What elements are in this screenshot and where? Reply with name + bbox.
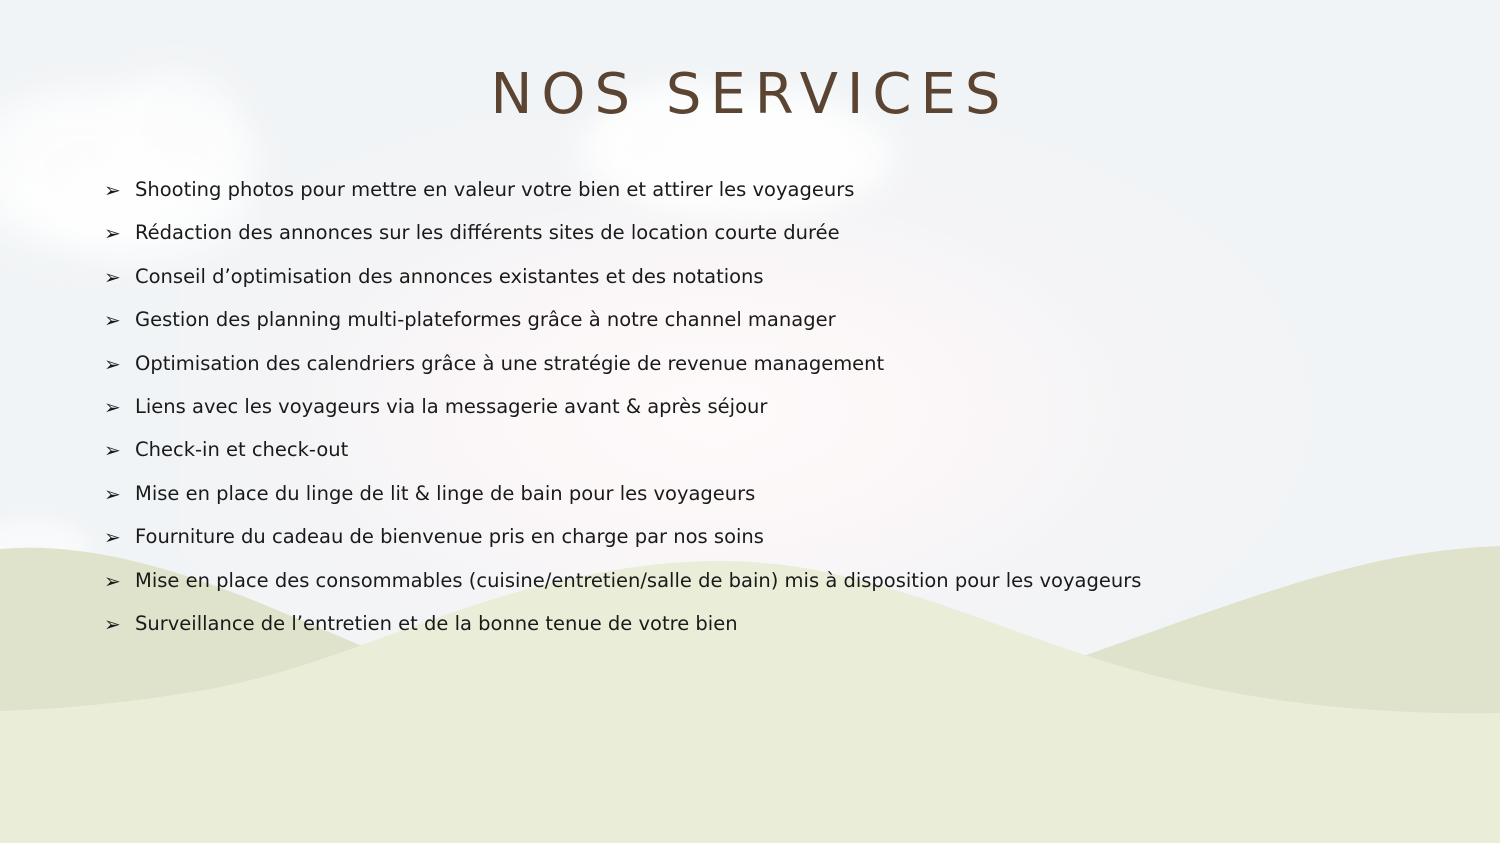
list-item-label: Optimisation des calendriers grâce à une… xyxy=(135,351,884,377)
list-item: ➢ Fourniture du cadeau de bienvenue pris… xyxy=(104,524,1444,567)
list-item-label: Rédaction des annonces sur les différent… xyxy=(135,220,840,246)
list-item-label: Shooting photos pour mettre en valeur vo… xyxy=(135,177,854,203)
list-item-label: Fourniture du cadeau de bienvenue pris e… xyxy=(135,524,764,550)
page-title: NOS SERVICES xyxy=(0,62,1500,127)
list-item-label: Mise en place du linge de lit & linge de… xyxy=(135,481,755,507)
arrowhead-bullet-icon: ➢ xyxy=(104,307,135,333)
list-item-label: Gestion des planning multi-plateformes g… xyxy=(135,307,836,333)
arrowhead-bullet-icon: ➢ xyxy=(104,177,135,203)
services-list: ➢ Shooting photos pour mettre en valeur … xyxy=(104,177,1444,654)
list-item-label: Mise en place des consommables (cuisine/… xyxy=(135,568,1141,594)
list-item: ➢ Check-in et check-out xyxy=(104,437,1444,480)
arrowhead-bullet-icon: ➢ xyxy=(104,394,135,420)
list-item-label: Surveillance de l’entretien et de la bon… xyxy=(135,611,738,637)
list-item: ➢ Conseil d’optimisation des annonces ex… xyxy=(104,264,1444,307)
list-item-label: Liens avec les voyageurs via la messager… xyxy=(135,394,767,420)
list-item: ➢ Rédaction des annonces sur les différe… xyxy=(104,220,1444,263)
arrowhead-bullet-icon: ➢ xyxy=(104,481,135,507)
arrowhead-bullet-icon: ➢ xyxy=(104,220,135,246)
presentation-slide: NOS SERVICES ➢ Shooting photos pour mett… xyxy=(0,0,1500,843)
list-item: ➢ Surveillance de l’entretien et de la b… xyxy=(104,611,1444,654)
slide-content: NOS SERVICES ➢ Shooting photos pour mett… xyxy=(0,0,1500,843)
arrowhead-bullet-icon: ➢ xyxy=(104,568,135,594)
list-item-label: Conseil d’optimisation des annonces exis… xyxy=(135,264,764,290)
list-item: ➢ Gestion des planning multi-plateformes… xyxy=(104,307,1444,350)
list-item: ➢ Shooting photos pour mettre en valeur … xyxy=(104,177,1444,220)
arrowhead-bullet-icon: ➢ xyxy=(104,351,135,377)
list-item: ➢ Liens avec les voyageurs via la messag… xyxy=(104,394,1444,437)
list-item: ➢ Optimisation des calendriers grâce à u… xyxy=(104,351,1444,394)
arrowhead-bullet-icon: ➢ xyxy=(104,524,135,550)
arrowhead-bullet-icon: ➢ xyxy=(104,611,135,637)
list-item: ➢ Mise en place des consommables (cuisin… xyxy=(104,568,1444,611)
list-item-label: Check-in et check-out xyxy=(135,437,348,463)
arrowhead-bullet-icon: ➢ xyxy=(104,264,135,290)
list-item: ➢ Mise en place du linge de lit & linge … xyxy=(104,481,1444,524)
arrowhead-bullet-icon: ➢ xyxy=(104,437,135,463)
